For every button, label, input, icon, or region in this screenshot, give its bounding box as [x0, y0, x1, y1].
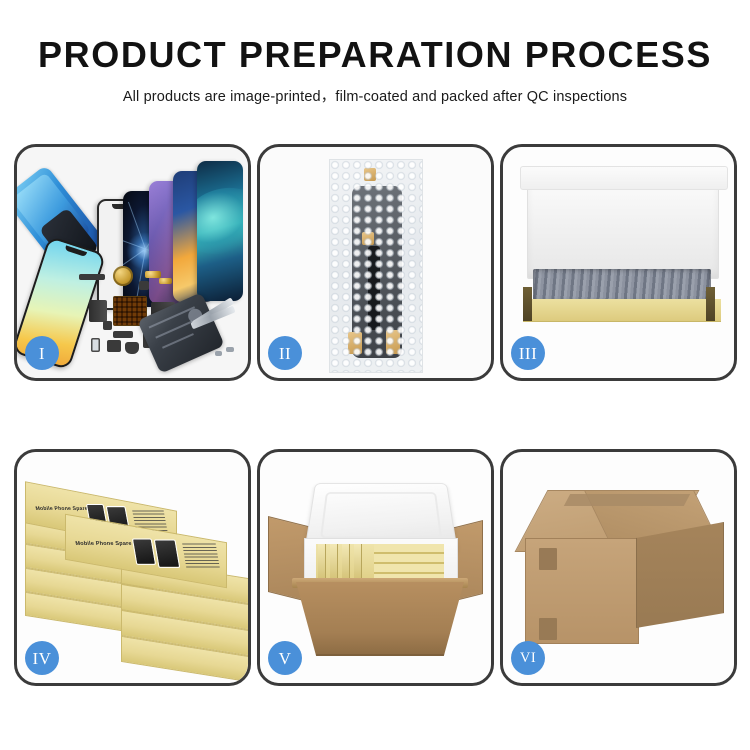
flex-cable [89, 300, 107, 322]
step-badge-6: VI [511, 641, 545, 675]
step-panel-5: V [257, 449, 494, 686]
carton-top-seam [564, 494, 690, 506]
component-bit-gold [159, 278, 172, 284]
component-bit [103, 321, 112, 330]
bubble-wrap-bag [329, 159, 423, 373]
page-title: PRODUCT PREPARATION PROCESS [0, 36, 750, 74]
page-subtitle: All products are image-printed，film-coat… [0, 85, 750, 106]
component-bit [139, 281, 149, 290]
phone-display-teal [197, 161, 243, 301]
box-window-image [132, 538, 156, 564]
bubble-texture [330, 160, 422, 372]
step-badge-5: V [268, 641, 302, 675]
carton-body [296, 582, 464, 656]
box-window-image [154, 539, 181, 567]
step-panel-6: VI [500, 449, 737, 686]
step-badge-4: IV [25, 641, 59, 675]
white-foam-liner [527, 173, 719, 279]
process-steps-grid: I II [14, 144, 736, 692]
taptic-component [113, 266, 133, 286]
speaker-module [125, 342, 139, 354]
screw-bit [215, 351, 222, 356]
step-badge-2: II [268, 336, 302, 370]
component-bit [113, 331, 133, 338]
carton-tape-lower [539, 618, 557, 640]
box-spec-text [182, 544, 220, 568]
step-panel-1: I [14, 144, 251, 381]
header: PRODUCT PREPARATION PROCESS All products… [0, 36, 750, 106]
carton-tape-upper [539, 548, 557, 570]
component-bit [107, 340, 121, 352]
box-corner-tab [706, 287, 715, 321]
inner-box-front [523, 299, 721, 322]
box-corner-tab [523, 287, 532, 321]
step-badge-3: III [511, 336, 545, 370]
carton-side-face [636, 522, 724, 628]
product-preparation-infographic: PRODUCT PREPARATION PROCESS All products… [0, 0, 750, 750]
step-panel-4: Mobile Phone Spare Parts Mobile Phone Sp… [14, 449, 251, 686]
step-badge-1: I [25, 336, 59, 370]
screw-bit [226, 347, 234, 352]
sim-tray [91, 338, 100, 352]
box-stack: Mobile Phone Spare Parts Mobile Phone Sp… [25, 474, 247, 670]
step-panel-3: III [500, 144, 737, 381]
housing-detail [162, 333, 194, 349]
component-bit [79, 274, 105, 280]
notch-icon [65, 245, 87, 257]
wallpaper-swirl [197, 178, 243, 265]
component-bit-gold [145, 271, 161, 278]
step-panel-2: II [257, 144, 494, 381]
packed-units-row [533, 269, 711, 303]
